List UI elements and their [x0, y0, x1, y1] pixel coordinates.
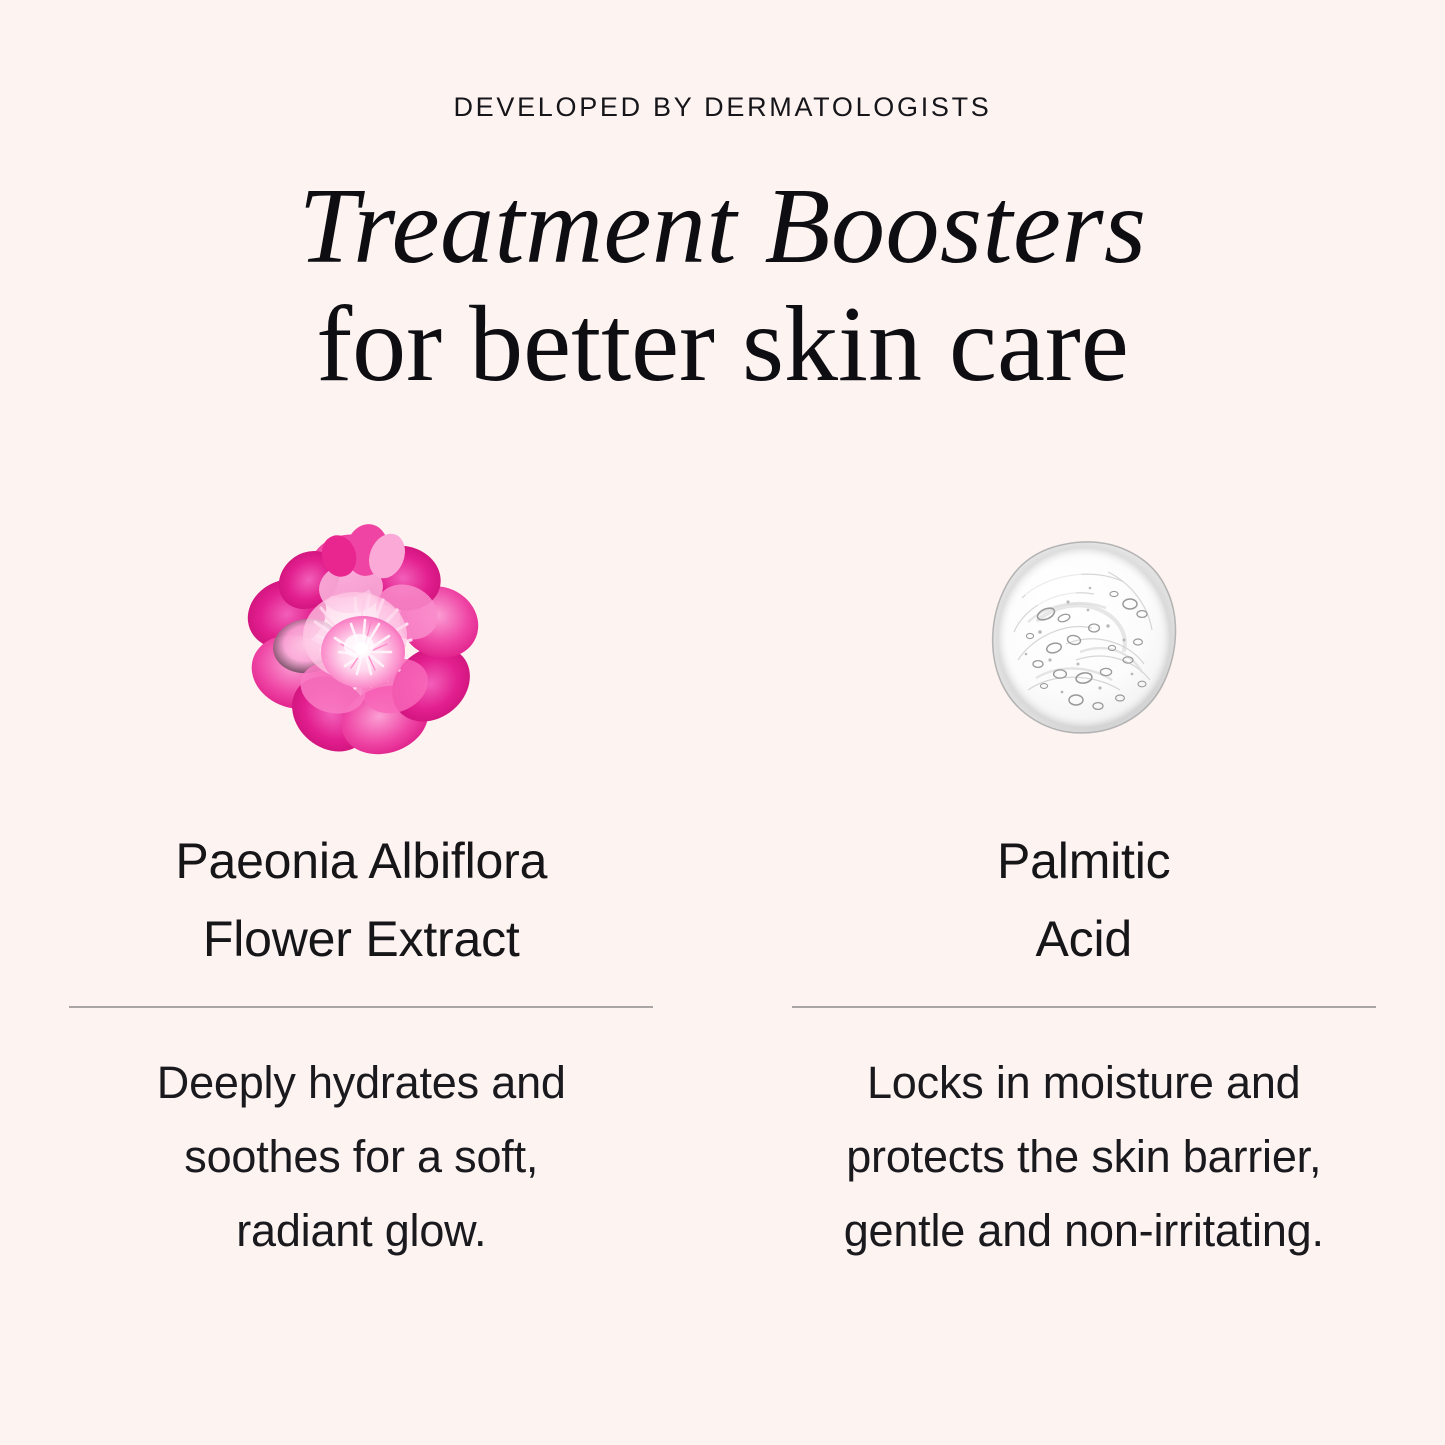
ingredient-description: Deeply hydrates and soothes for a soft, …: [51, 1046, 671, 1268]
ingredient-name-line-2: Flower Extract: [175, 900, 547, 978]
ingredient-name-line-1: Palmitic: [997, 822, 1170, 900]
description-line-2: protects the skin barrier,: [774, 1120, 1394, 1194]
infographic-page: DEVELOPED BY DERMATOLOGISTS Treatment Bo…: [0, 0, 1445, 1445]
ingredient-description: Locks in moisture and protects the skin …: [774, 1046, 1394, 1268]
clear-gel-droplet-image: [969, 520, 1199, 760]
description-line-3: radiant glow.: [51, 1194, 671, 1268]
eyebrow-text: DEVELOPED BY DERMATOLOGISTS: [0, 93, 1445, 123]
peony-flower-image: [246, 520, 476, 760]
description-line-2: soothes for a soft,: [51, 1120, 671, 1194]
description-line-1: Deeply hydrates and: [51, 1046, 671, 1120]
ingredient-name-line-2: Acid: [997, 900, 1170, 978]
description-line-3: gentle and non-irritating.: [774, 1194, 1394, 1268]
description-line-1: Locks in moisture and: [774, 1046, 1394, 1120]
ingredient-columns: Paeonia Albiflora Flower Extract Deeply …: [0, 520, 1445, 1268]
ingredient-card-paeonia: Paeonia Albiflora Flower Extract Deeply …: [0, 520, 723, 1268]
headline-line-2: for better skin care: [0, 286, 1445, 404]
ingredient-name: Paeonia Albiflora Flower Extract: [175, 822, 547, 978]
page-title: Treatment Boosters for better skin care: [0, 168, 1445, 404]
divider-line: [792, 1006, 1376, 1008]
ingredient-name: Palmitic Acid: [997, 822, 1170, 978]
ingredient-card-palmitic: Palmitic Acid Locks in moisture and prot…: [723, 520, 1445, 1268]
ingredient-name-line-1: Paeonia Albiflora: [175, 822, 547, 900]
headline-line-1: Treatment Boosters: [0, 168, 1445, 286]
divider-line: [69, 1006, 653, 1008]
